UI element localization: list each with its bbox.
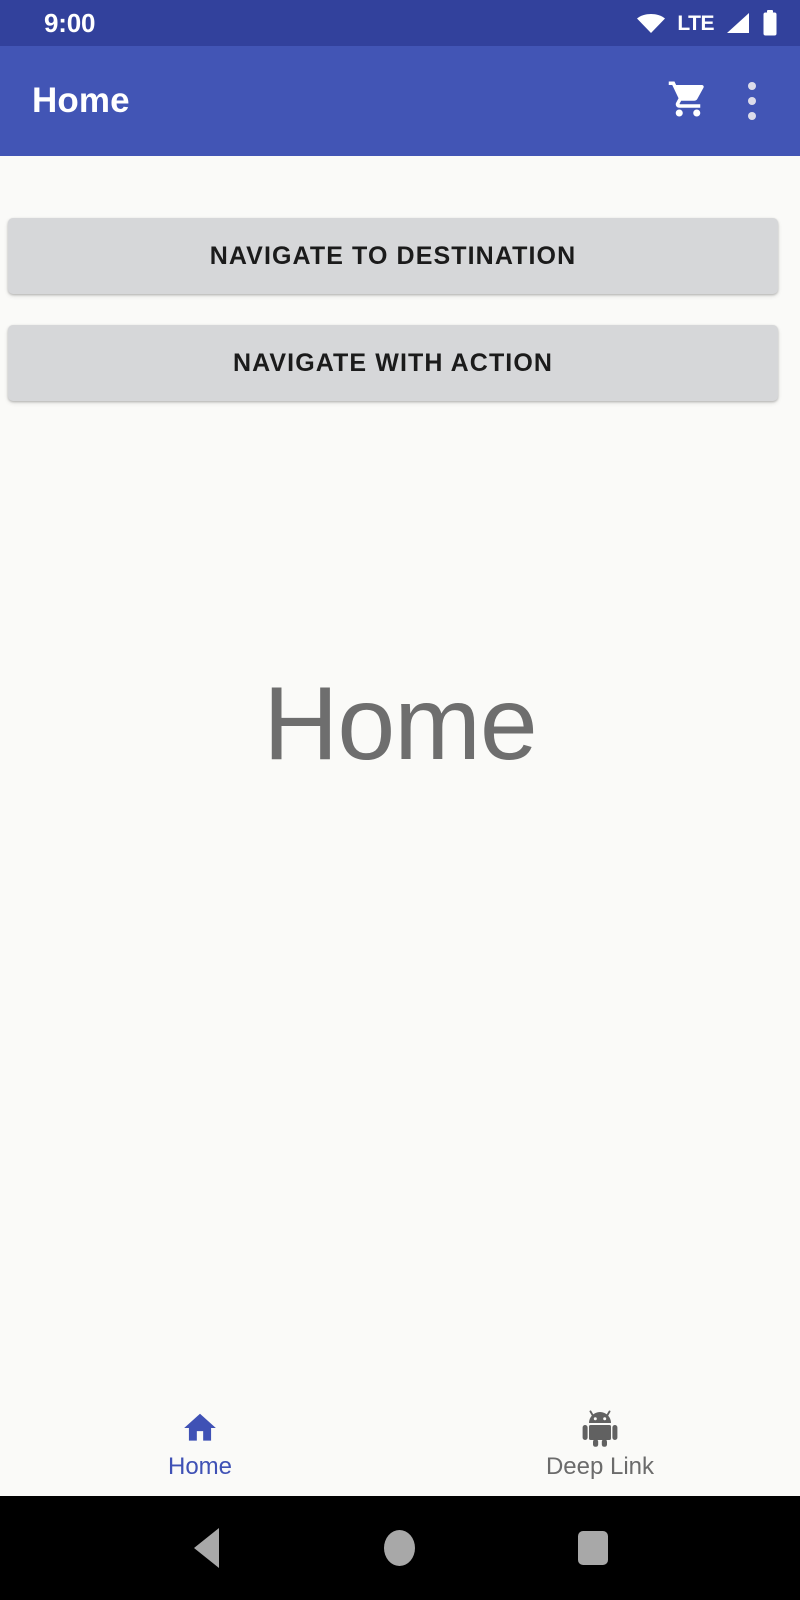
cart-icon	[667, 78, 709, 125]
bottom-navigation-bar: Home	[0, 1384, 800, 1496]
overflow-dot	[748, 112, 756, 120]
android-robot-icon	[578, 1401, 622, 1447]
overflow-menu-button[interactable]	[728, 71, 776, 131]
home-circle-icon	[384, 1530, 415, 1566]
app-bar-title: Home	[32, 81, 130, 121]
network-type-label: LTE	[677, 13, 714, 34]
app-bar-actions	[658, 71, 776, 131]
back-triangle-icon	[194, 1528, 219, 1568]
wifi-icon	[636, 11, 666, 35]
status-bar-clock: 9:00	[44, 10, 95, 36]
bottom-nav-label-deep-link: Deep Link	[546, 1455, 654, 1479]
overflow-dot	[748, 97, 756, 105]
system-navigation-bar	[0, 1496, 800, 1600]
navigate-to-destination-button[interactable]: NAVIGATE TO DESTINATION	[8, 218, 778, 294]
signal-icon	[725, 12, 751, 34]
battery-icon	[762, 10, 778, 36]
recents-square-icon	[578, 1531, 608, 1565]
status-bar-icons: LTE	[636, 10, 778, 36]
bottom-nav-item-home[interactable]: Home	[0, 1384, 400, 1496]
content-area: Home NAVIGATE TO DESTINATION NAVIGATE WI…	[0, 156, 800, 1384]
cart-button[interactable]	[658, 71, 718, 131]
overflow-dot	[748, 82, 756, 90]
recents-button[interactable]	[558, 1513, 628, 1583]
status-bar: 9:00 LTE	[0, 0, 800, 46]
app-bar: Home	[0, 46, 800, 156]
phone-screen: 9:00 LTE Home	[0, 0, 800, 1600]
home-icon	[180, 1401, 220, 1447]
home-button[interactable]	[365, 1513, 435, 1583]
navigate-with-action-button[interactable]: NAVIGATE WITH ACTION	[8, 325, 778, 401]
back-button[interactable]	[172, 1513, 242, 1583]
bottom-nav-label-home: Home	[168, 1455, 232, 1479]
page-title: Home	[0, 672, 800, 776]
bottom-nav-item-deep-link[interactable]: Deep Link	[400, 1384, 800, 1496]
